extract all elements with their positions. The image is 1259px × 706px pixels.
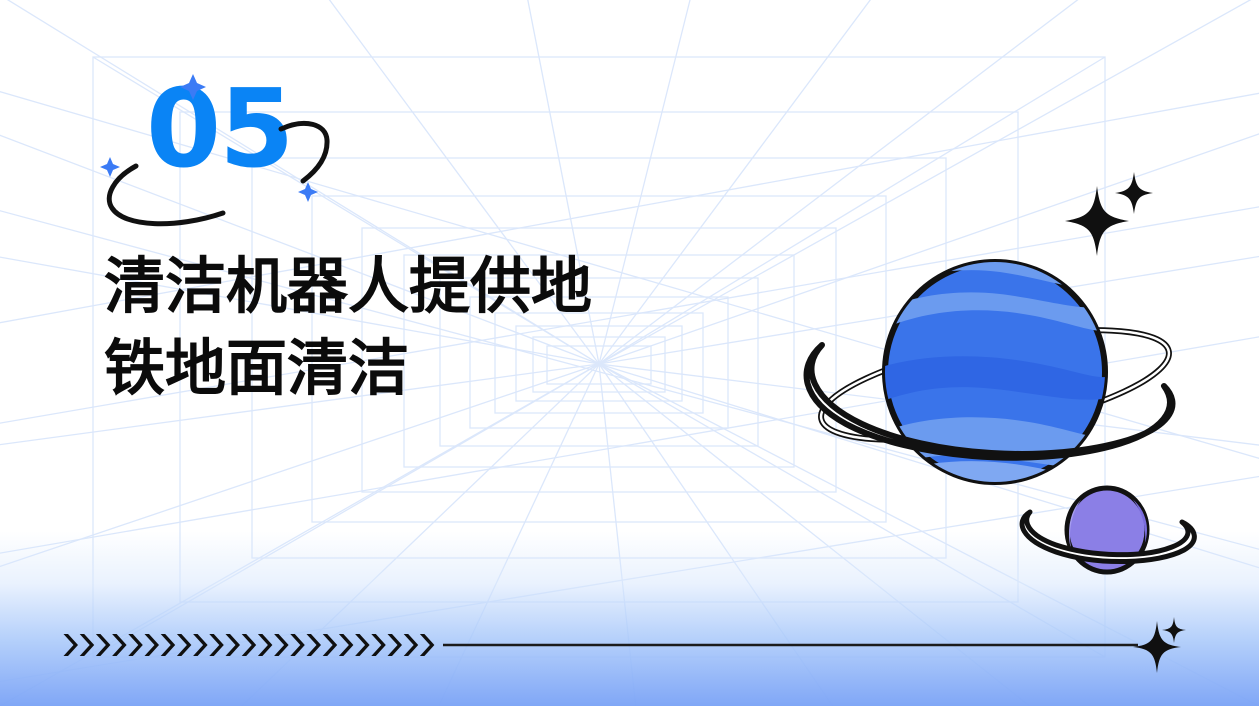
chevron-arrow-icon: [242, 634, 257, 656]
chevron-arrow-icon: [274, 634, 289, 656]
chevron-arrow-icon: [80, 634, 95, 656]
chevron-arrow-icon: [112, 634, 127, 656]
chevron-arrow-icon: [193, 634, 208, 656]
chevron-arrow-icon: [307, 634, 322, 656]
chevron-arrow-icon: [420, 634, 435, 656]
chevron-arrow-icon: [339, 634, 354, 656]
chevron-arrow-row: [64, 634, 435, 656]
chevron-arrow-icon: [161, 634, 176, 656]
chevron-arrow-icon: [404, 634, 419, 656]
footer-decoration-group: [0, 0, 1259, 706]
chevron-arrow-icon: [128, 634, 143, 656]
chevron-arrow-icon: [226, 634, 241, 656]
presentation-slide: 05 清洁机器人提供地 铁地面清洁: [0, 0, 1259, 706]
chevron-arrow-icon: [177, 634, 192, 656]
chevron-arrow-icon: [388, 634, 403, 656]
chevron-arrow-icon: [371, 634, 386, 656]
sparkle-small-footer-icon: [1162, 617, 1186, 643]
chevron-arrow-icon: [355, 634, 370, 656]
chevron-arrow-icon: [64, 634, 79, 656]
chevron-arrow-icon: [96, 634, 111, 656]
chevron-arrow-icon: [145, 634, 160, 656]
chevron-arrow-icon: [209, 634, 224, 656]
chevron-arrow-icon: [290, 634, 305, 656]
chevron-arrow-icon: [323, 634, 338, 656]
chevron-arrow-icon: [258, 634, 273, 656]
